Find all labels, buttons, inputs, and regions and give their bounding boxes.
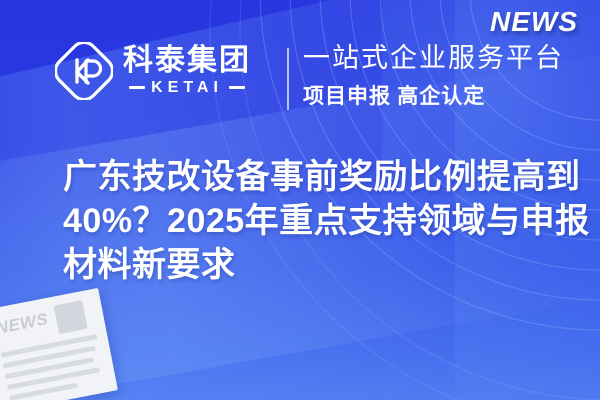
wordmark-dash-right bbox=[229, 86, 245, 89]
brand-name-en: KETAI bbox=[151, 79, 223, 97]
article-title: 广东技改设备事前奖励比例提高到 40%？2025年重点支持领域与申报 材料新要求 bbox=[63, 155, 579, 287]
article-title-line-2: 40%？2025年重点支持领域与申报 bbox=[63, 199, 579, 243]
tagline-secondary: 项目申报 高企认定 bbox=[303, 80, 564, 110]
header-divider bbox=[287, 48, 289, 110]
article-title-line-1: 广东技改设备事前奖励比例提高到 bbox=[63, 155, 579, 199]
kp-monogram-icon bbox=[55, 42, 113, 100]
brand-name-en-row: KETAI bbox=[123, 79, 251, 97]
newspaper-sheet: NEWS bbox=[0, 288, 118, 400]
newspaper-text-lines bbox=[1, 334, 107, 400]
banner-header: NEWS 科泰集团 KETAI 一站式企业服务平台 项目 bbox=[0, 0, 600, 140]
brand-wordmark: 科泰集团 KETAI bbox=[123, 45, 251, 97]
tagline-primary: 一站式企业服务平台 bbox=[303, 42, 564, 74]
news-kicker-label: NEWS bbox=[490, 6, 578, 38]
newspaper-illustration: NEWS bbox=[0, 286, 131, 400]
newspaper-thumbnail-icon bbox=[54, 300, 88, 334]
article-title-line-3: 材料新要求 bbox=[63, 243, 579, 287]
brand-logo: 科泰集团 KETAI bbox=[55, 42, 251, 100]
brand-name-cn: 科泰集团 bbox=[123, 45, 251, 77]
tagline-block: 一站式企业服务平台 项目申报 高企认定 bbox=[303, 42, 564, 110]
news-banner: NEWS 科泰集团 KETAI 一站式企业服务平台 项目 bbox=[0, 0, 600, 400]
newspaper-heading: NEWS bbox=[0, 307, 50, 337]
wordmark-dash-left bbox=[129, 86, 145, 89]
